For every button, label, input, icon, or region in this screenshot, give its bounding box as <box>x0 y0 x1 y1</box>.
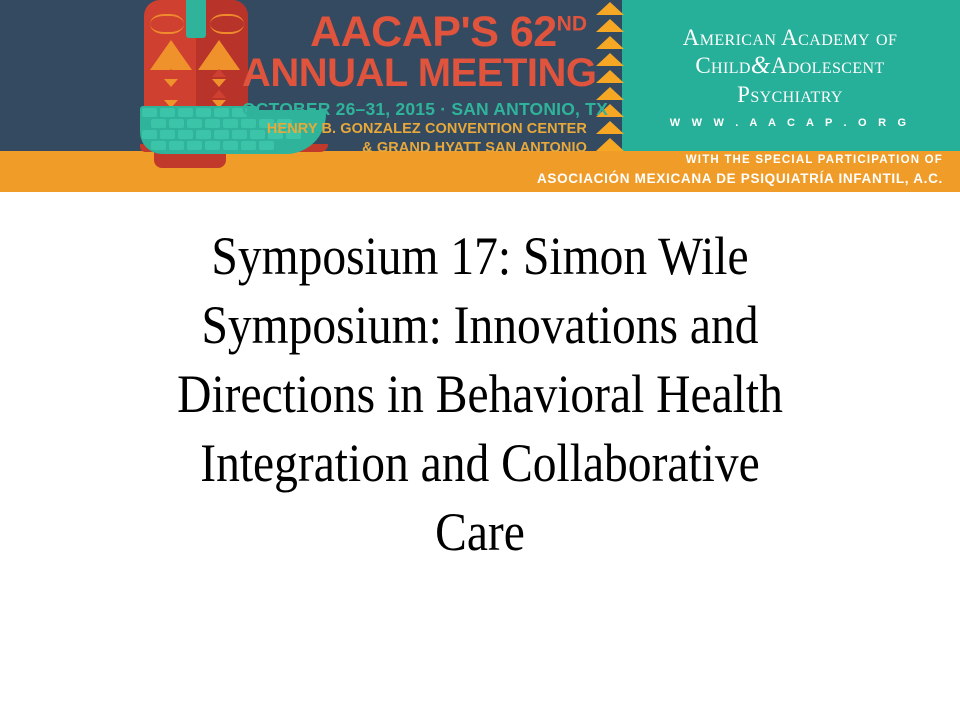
special-participation-organization: ASOCIACIÓN MEXICANA DE PSIQUIATRÍA INFAN… <box>0 169 943 188</box>
slide-title-line: Symposium 17: Simon Wile <box>107 222 853 291</box>
slide-title-line: Integration and Collaborative <box>107 429 853 498</box>
special-participation-block: WITH THE SPECIAL PARTICIPATION OF ASOCIA… <box>0 152 943 188</box>
meeting-headline-primary: AACAP'S 62ND <box>242 12 587 53</box>
aacap-logo-child: Child <box>695 53 751 78</box>
aacap-logo-adolescent: Adolescent <box>771 53 885 78</box>
aacap-logo-line-2: Child&Adolescent <box>640 51 940 81</box>
slide-title-line: Directions in Behavioral Health <box>107 360 853 429</box>
ampersand-icon: & <box>751 52 771 79</box>
aacap-website-url: W W W . A A C A P . O R G <box>640 117 940 129</box>
slide-title-line: Symposium: Innovations and <box>107 291 853 360</box>
aacap-annual-meeting-banner: AACAP'S 62ND ANNUAL MEETING OCTOBER 26–3… <box>0 0 960 192</box>
chevron-divider <box>596 0 624 151</box>
special-participation-label: WITH THE SPECIAL PARTICIPATION OF <box>0 152 943 169</box>
slide-title: Symposium 17: Simon Wile Symposium: Inno… <box>107 222 853 568</box>
aacap-logo-line-3: Psychiatry <box>640 81 940 108</box>
presentation-slide: AACAP'S 62ND ANNUAL MEETING OCTOBER 26–3… <box>0 0 960 720</box>
meeting-venue-primary: HENRY B. GONZALEZ CONVENTION CENTER <box>242 120 587 139</box>
aacap-logo: American Academy of Child&Adolescent Psy… <box>640 24 940 129</box>
meeting-headline-secondary: ANNUAL MEETING <box>242 53 587 94</box>
slide-title-line: Care <box>107 498 853 567</box>
aacap-logo-line-1: American Academy of <box>640 24 940 51</box>
meeting-dates-location: OCTOBER 26–31, 2015 · SAN ANTONIO, TX <box>242 99 587 120</box>
meeting-headline-primary-text: AACAP'S 62 <box>310 8 557 56</box>
meeting-headline-ordinal: ND <box>557 13 587 36</box>
meeting-info-block: AACAP'S 62ND ANNUAL MEETING OCTOBER 26–3… <box>242 12 587 157</box>
